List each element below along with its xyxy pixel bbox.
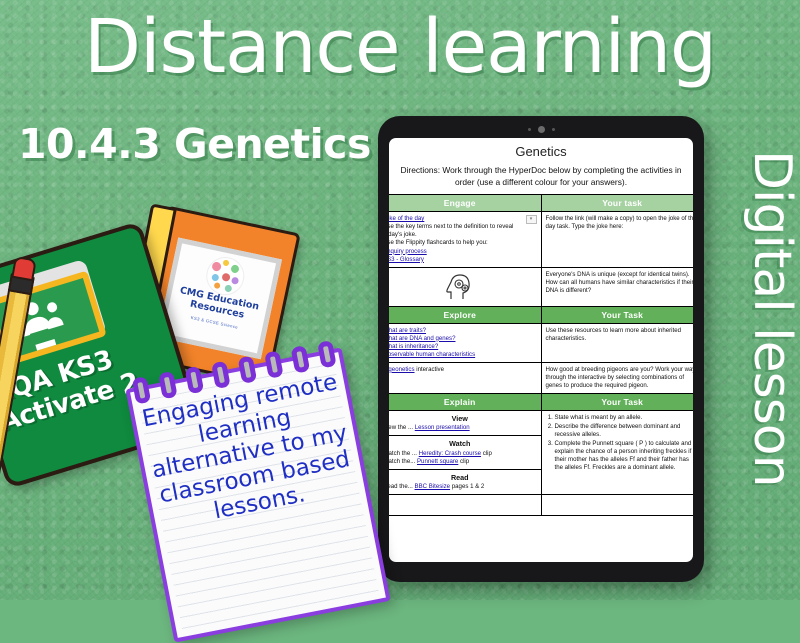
read-suffix: pages 1 & 2 xyxy=(450,483,484,490)
table-row: What are traits? What are DNA and genes?… xyxy=(389,323,693,362)
view-prefix: View the ... xyxy=(389,424,415,431)
tablet-device: Genetics Directions: Work through the Hy… xyxy=(378,116,704,582)
table-row xyxy=(389,495,693,516)
engage-instruction-2: Use the Flippity flashcards to help you: xyxy=(389,239,488,246)
engage-task-cell: Follow the link (will make a copy) to op… xyxy=(541,212,693,267)
section-header-explore: Explore xyxy=(389,306,541,323)
digital-lesson-tag: Digital lesson xyxy=(742,150,800,487)
link-bbc-bitesize[interactable]: BBC Bitesize xyxy=(415,483,451,490)
table-header-row: Explore Your Task xyxy=(389,306,693,323)
explore-pigeon-task-cell: How good at breeding pigeons are you? Wo… xyxy=(541,362,693,393)
empty-cell-left xyxy=(389,495,541,516)
hyperdoc-table: Engage Your task ▾ Joke of the day Use t… xyxy=(389,194,693,516)
empty-cell-right xyxy=(541,495,693,516)
link-enquiry-process[interactable]: Enquiry process xyxy=(389,248,427,255)
read-prefix: Read the... xyxy=(389,483,415,490)
list-item: State what is meant by an allele. xyxy=(555,414,694,422)
subheading-read: Read xyxy=(389,473,537,483)
tablet-screen[interactable]: Genetics Directions: Work through the Hy… xyxy=(389,138,693,562)
section-header-engage: Engage xyxy=(389,195,541,212)
section-header-engage-task: Your task xyxy=(541,195,693,212)
lesson-subtitle: 10.4.3 Genetics xyxy=(18,120,371,168)
section-header-explain: Explain xyxy=(389,393,541,410)
link-joke-of-the-day[interactable]: Joke of the day xyxy=(389,215,424,222)
pigeonetics-suffix: interactive xyxy=(415,366,444,373)
table-row: View View the ... Lesson presentation St… xyxy=(389,410,693,436)
explore-interactive-cell: Pigeonetics interactive xyxy=(389,362,541,393)
link-punnett-square[interactable]: Punnett square xyxy=(417,458,458,465)
explore-task-cell: Use these resources to learn more about … xyxy=(541,323,693,362)
watch-suffix-1: clip xyxy=(481,450,492,457)
list-item: Describe the difference between dominant… xyxy=(555,423,694,439)
tablet-camera-dots xyxy=(378,124,704,134)
head-with-gears-icon xyxy=(445,273,475,301)
engage-resources-cell: ▾ Joke of the day Use the key terms next… xyxy=(389,212,541,267)
subheading-view: View xyxy=(389,414,537,424)
link-what-is-inheritance[interactable]: What is inheritance? xyxy=(389,343,438,350)
watch-prefix-1: Watch the ... xyxy=(389,450,419,457)
engage-question-cell: Everyone's DNA is unique (except for ide… xyxy=(541,267,693,306)
table-row: Pigeonetics interactive How good at bree… xyxy=(389,362,693,393)
table-row: ▾ Joke of the day Use the key terms next… xyxy=(389,212,693,267)
explain-task-list: State what is meant by an allele. Descri… xyxy=(546,414,694,472)
watch-suffix-2: clip xyxy=(458,458,469,465)
list-item: Complete the Punnett square ( P ) to cal… xyxy=(555,440,694,472)
explain-watch-cell: Watch Watch the ... Heredity: Crash cour… xyxy=(389,436,541,470)
explore-links-cell: What are traits? What are DNA and genes?… xyxy=(389,323,541,362)
section-header-explain-task: Your Task xyxy=(541,393,693,410)
link-pigeonetics[interactable]: Pigeonetics xyxy=(389,366,415,373)
dropdown-chip-icon[interactable]: ▾ xyxy=(526,215,537,224)
table-row: Everyone's DNA is unique (except for ide… xyxy=(389,267,693,306)
link-lesson-presentation[interactable]: Lesson presentation xyxy=(415,424,470,431)
section-header-explore-task: Your Task xyxy=(541,306,693,323)
document-title: Genetics xyxy=(389,138,693,164)
explain-tasks-cell: State what is meant by an allele. Descri… xyxy=(541,410,693,495)
explain-read-cell: Read Read the... BBC Bitesize pages 1 & … xyxy=(389,469,541,495)
engage-instruction-1: Use the key terms next to the definition… xyxy=(389,223,513,238)
link-observable-human-characteristics[interactable]: Observable human characteristics xyxy=(389,351,475,358)
table-header-row: Engage Your task xyxy=(389,195,693,212)
link-heredity-crash-course[interactable]: Heredity: Crash course xyxy=(419,450,481,457)
link-what-are-traits[interactable]: What are traits? xyxy=(389,327,426,334)
watch-prefix-2: Watch the... xyxy=(389,458,417,465)
subheading-watch: Watch xyxy=(389,439,537,449)
explain-view-cell: View View the ... Lesson presentation xyxy=(389,410,541,436)
engage-thinking-cell xyxy=(389,267,541,306)
table-header-row: Explain Your Task xyxy=(389,393,693,410)
link-what-are-dna-and-genes[interactable]: What are DNA and genes? xyxy=(389,335,456,342)
link-ks3-glossary[interactable]: KS3 - Glossary xyxy=(389,256,424,263)
document-directions: Directions: Work through the HyperDoc be… xyxy=(389,164,693,194)
